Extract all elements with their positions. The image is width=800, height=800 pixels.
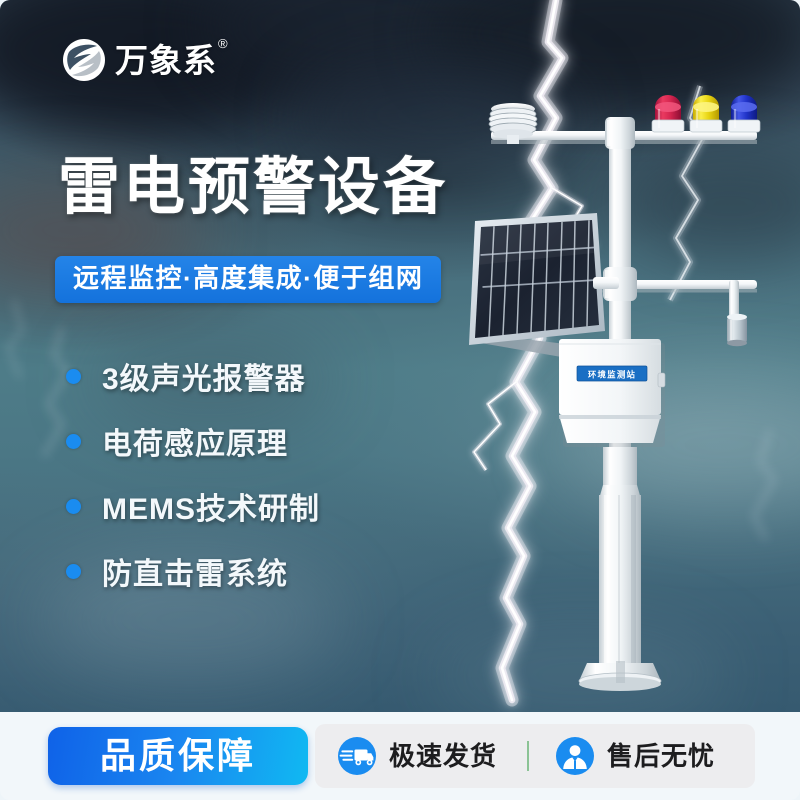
bullet-dot-icon	[66, 369, 81, 384]
service-divider	[527, 741, 529, 771]
red-alarm-beacon	[652, 95, 684, 132]
brand-name: 万象系	[115, 42, 217, 79]
blue-alarm-beacon	[728, 95, 760, 132]
cabinet-label-text: 环境监测站	[588, 370, 636, 380]
mast-transition	[603, 447, 637, 489]
service-after-sales[interactable]: 售后无忧	[555, 736, 715, 776]
footer-bar: 品质保障	[0, 712, 800, 800]
device-illustration: 环境监测站	[455, 95, 785, 695]
wanxiangxi-swoosh-logo-icon	[62, 38, 106, 82]
feature-list: 3级声光报警器 电荷感应原理 MEMS技术研制 防直击雷系统	[66, 345, 320, 605]
page-title: 雷电预警设备	[58, 155, 448, 220]
service-highlights: 极速发货 售后无忧	[315, 724, 755, 788]
delivery-truck-icon	[337, 736, 377, 776]
customer-service-person-icon	[555, 736, 595, 776]
registered-trademark-symbol: ®	[218, 36, 229, 51]
subtitle-badge: 远程监控·高度集成·便于组网	[55, 256, 441, 303]
list-item: MEMS技术研制	[66, 475, 320, 537]
product-poster: 万象系® 雷电预警设备 远程监控·高度集成·便于组网 3级声光报警器 电荷感应原…	[0, 0, 800, 800]
bullet-dot-icon	[66, 564, 81, 579]
bullet-dot-icon	[66, 499, 81, 514]
yellow-alarm-beacon	[690, 95, 722, 132]
quality-guarantee-badge[interactable]: 品质保障	[48, 727, 308, 785]
service-label: 极速发货	[389, 743, 497, 769]
subtitle-badge-label: 远程监控·高度集成·便于组网	[73, 263, 423, 293]
service-fast-shipping[interactable]: 极速发货	[337, 736, 497, 776]
list-item: 防直击雷系统	[66, 540, 320, 602]
list-item: 电荷感应原理	[66, 410, 320, 472]
feature-label: 防直击雷系统	[102, 549, 288, 593]
alarm-beacon-stack	[652, 95, 760, 132]
list-item: 3级声光报警器	[66, 345, 320, 407]
feature-label: 电荷感应原理	[102, 419, 288, 463]
weather-station-device: 环境监测站	[455, 95, 785, 695]
feature-label: MEMS技术研制	[102, 484, 320, 528]
bullet-dot-icon	[66, 434, 81, 449]
solar-panel	[469, 213, 619, 359]
control-cabinet: 环境监测站	[559, 339, 665, 447]
brand-name-wrapper: 万象系®	[115, 44, 228, 77]
base-plate	[579, 661, 661, 691]
feature-label: 3级声光报警器	[102, 354, 306, 398]
quality-guarantee-label: 品质保障	[100, 738, 256, 774]
service-label: 售后无忧	[607, 743, 715, 769]
brand-logo: 万象系®	[62, 38, 228, 82]
